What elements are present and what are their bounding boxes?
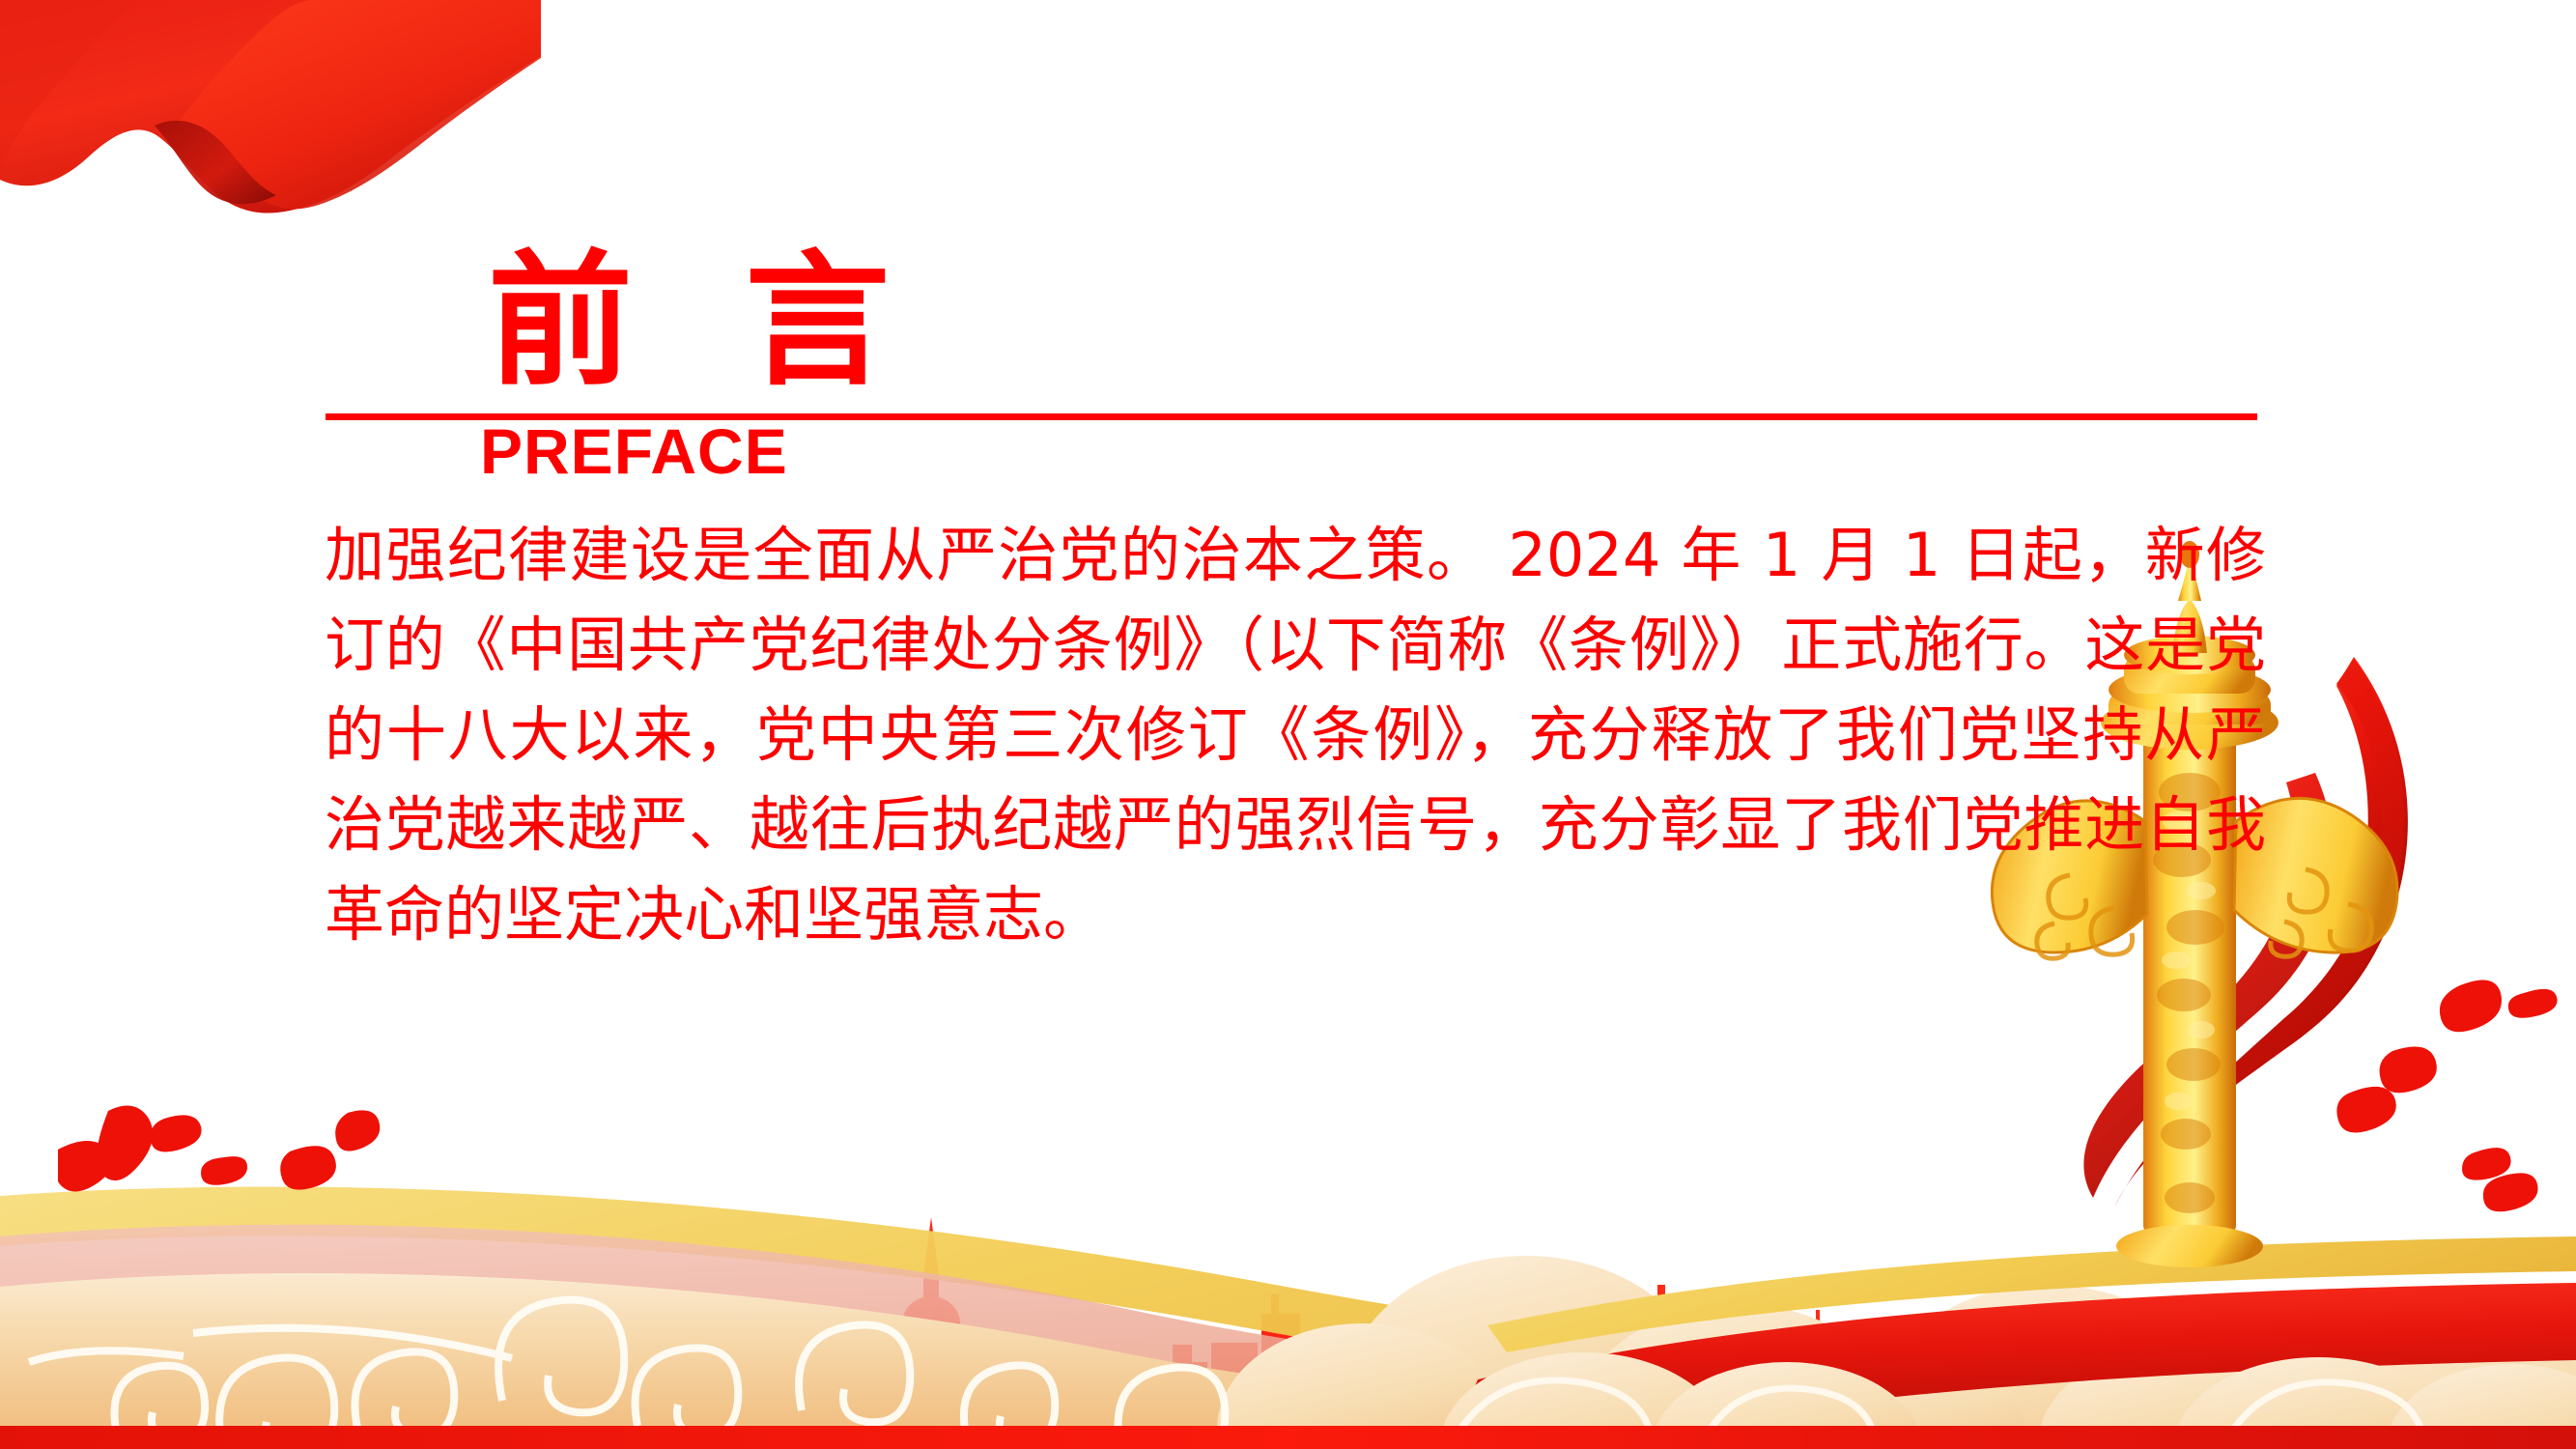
bottom-red-bar xyxy=(0,1426,2576,1449)
red-petals-left-icon xyxy=(58,1092,483,1314)
red-silk-flag-icon xyxy=(0,0,541,241)
bottom-decoration-group xyxy=(0,947,2576,1449)
cloud-swirls xyxy=(29,1300,1225,1449)
city-skyline-silhouette xyxy=(87,1217,1916,1439)
preface-body: 加强纪律建设是全面从严治党的治本之策。 2024 年 1 月 1 日起，新修订的… xyxy=(325,510,2266,959)
red-petals-right-icon xyxy=(2257,869,2576,1256)
page-title-en: PREFACE xyxy=(480,419,788,483)
slide-canvas: 前 言 PREFACE 加强纪律建设是全面从严治党的治本之策。 2024 年 1… xyxy=(0,0,2576,1449)
page-title-cn: 前 言 xyxy=(488,249,920,394)
preface-paragraph: 加强纪律建设是全面从严治党的治本之策。 2024 年 1 月 1 日起，新修订的… xyxy=(325,510,2266,959)
